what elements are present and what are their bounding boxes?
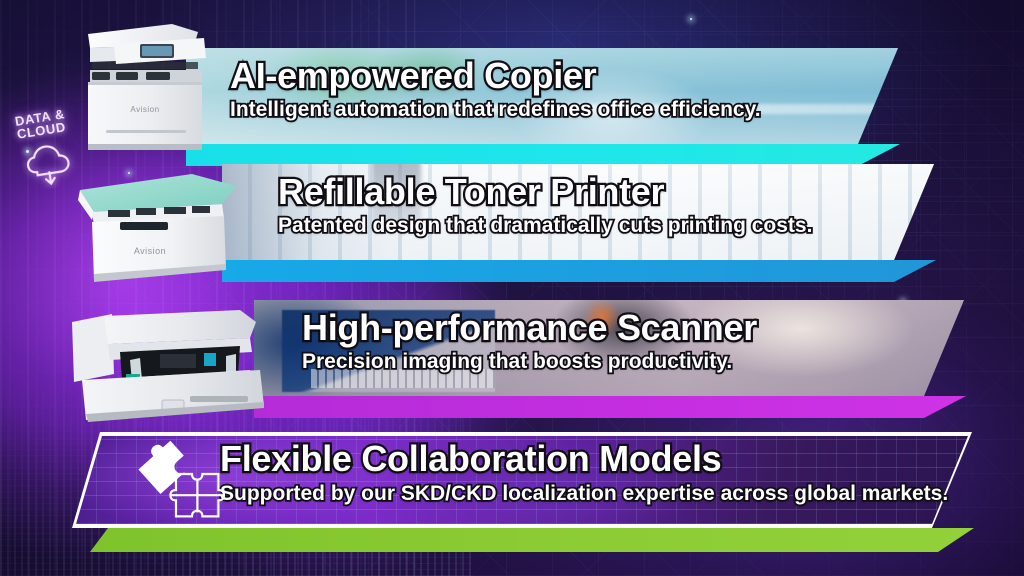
svg-text:Avision: Avision <box>130 105 159 114</box>
production-scanner-image <box>64 304 294 428</box>
banner-accent-bar-magenta <box>254 396 966 418</box>
banner-ai-copier[interactable]: AI-empowered Copier Intelligent automati… <box>186 48 898 144</box>
multifunction-copier-image: Avision <box>76 18 226 150</box>
banner-accent-bar-green <box>90 528 974 552</box>
banner-accent-bar-blue <box>222 260 936 282</box>
banner-high-performance-scanner[interactable]: High-performance Scanner Precision imagi… <box>254 300 964 396</box>
banner-title: AI-empowered Copier <box>230 55 596 97</box>
banner-flexible-collaboration-models[interactable]: Flexible Collaboration Models Supported … <box>72 432 972 528</box>
compact-printer-image: Avision <box>72 160 244 288</box>
banner-subtitle: Patented design that dramatically cuts p… <box>278 214 812 238</box>
banner-subtitle: Intelligent automation that redefines of… <box>230 98 761 122</box>
puzzle-pieces-icon <box>124 440 232 529</box>
banner-subtitle: Precision imaging that boosts productivi… <box>302 350 732 374</box>
slide-canvas: DATA & CLOUD AI-empowered Copier Intelli… <box>0 0 1024 576</box>
banner-title: Refillable Toner Printer <box>278 171 664 213</box>
spark-dot <box>26 150 29 153</box>
svg-text:Avision: Avision <box>134 246 166 256</box>
banner-refillable-toner-printer[interactable]: Refillable Toner Printer Patented design… <box>222 164 934 260</box>
banner-title: Flexible Collaboration Models <box>220 438 721 480</box>
spark-dot <box>690 18 692 20</box>
banner-title: High-performance Scanner <box>302 307 757 349</box>
banner-accent-bar-cyan <box>186 144 900 166</box>
banner-subtitle: Supported by our SKD/CKD localization ex… <box>220 482 948 506</box>
